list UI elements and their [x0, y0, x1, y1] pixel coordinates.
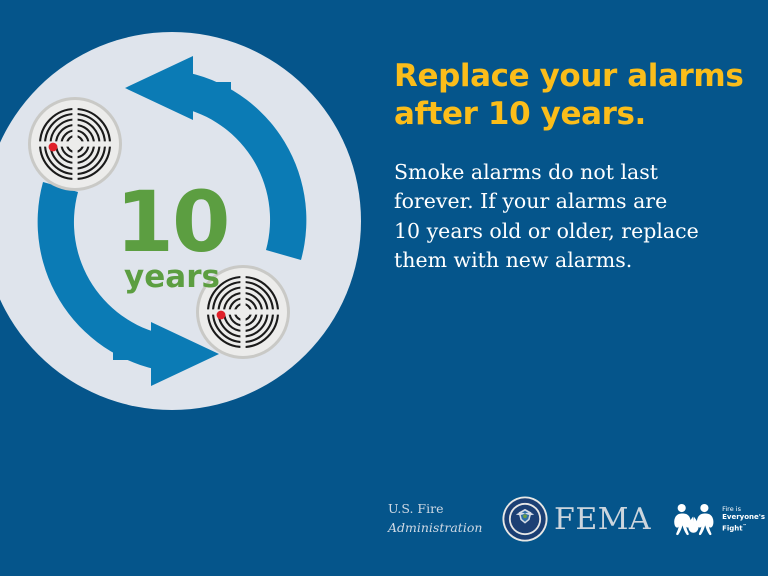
body-copy: Smoke alarms do not last forever. If you… — [394, 158, 750, 275]
fema-wordmark: FEMA — [554, 502, 651, 537]
alarm-led-icon — [217, 311, 226, 320]
usfa-line-1: U.S. Fire — [388, 500, 476, 519]
headline-line-2: after 10 years. — [394, 96, 746, 134]
fire-is-everyones-fight-icon — [673, 501, 717, 537]
recycle-cycle-graphic: 10 years — [0, 32, 361, 410]
body-line-4: them with new alarms. — [394, 246, 750, 275]
usfa-wordmark: U.S. Fire Administration — [388, 500, 476, 538]
campaign-line-1: Fire is — [722, 505, 765, 514]
ten-years-label: 10 years — [0, 180, 361, 293]
alarm-led-icon — [49, 143, 58, 152]
poster-canvas: 10 years Replace your alarms after 10 ye… — [0, 0, 768, 576]
body-line-3: 10 years old or older, replace — [394, 217, 750, 246]
headline: Replace your alarms after 10 years. — [394, 58, 746, 133]
body-line-2: forever. If your alarms are — [394, 187, 750, 216]
campaign-line-2: Everyone's — [722, 513, 765, 522]
smoke-alarm-icon — [27, 96, 123, 192]
fire-is-everyones-fight-lockup: Fire is Everyone's Fight™ — [673, 501, 765, 537]
campaign-line-3: Fight™ — [722, 523, 765, 534]
footer-logo-lockup: U.S. Fire Administration — [388, 486, 758, 552]
years-number: 10 — [0, 180, 361, 264]
years-unit: years — [0, 262, 361, 293]
body-line-1: Smoke alarms do not last — [394, 158, 750, 187]
usfa-line-2: Administration — [388, 519, 476, 538]
campaign-line-3-text: Fight — [722, 524, 743, 532]
campaign-tm: ™ — [743, 523, 747, 528]
headline-line-1: Replace your alarms — [394, 58, 746, 96]
dhs-seal-icon — [502, 496, 548, 542]
fire-is-everyones-fight-wordmark: Fire is Everyone's Fight™ — [722, 505, 765, 533]
